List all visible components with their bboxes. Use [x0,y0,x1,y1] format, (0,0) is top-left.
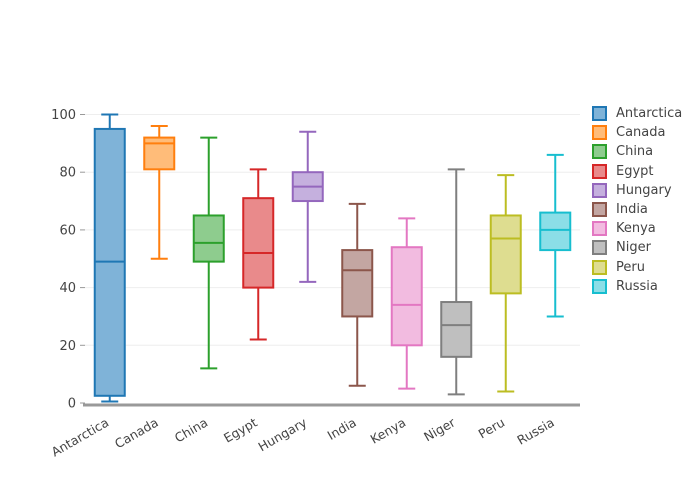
box-iqr[interactable] [144,138,174,170]
x-tick-label[interactable]: Niger [421,414,458,444]
legend-item[interactable]: Egypt [592,162,696,181]
box-iqr[interactable] [441,302,471,357]
legend-item[interactable]: China [592,142,696,161]
box-plot-series[interactable] [342,204,372,386]
y-tick-label: 60 [59,223,76,238]
box-iqr[interactable] [540,213,570,251]
box-plot-series[interactable] [441,169,471,394]
legend-swatch-icon [592,279,607,294]
legend-swatch-icon [592,106,607,121]
x-tick-label[interactable]: Antarctica [49,415,112,460]
legend-item[interactable]: Kenya [592,219,696,238]
box-plot-series[interactable] [95,115,125,402]
legend-swatch-icon [592,202,607,217]
x-tick-label[interactable]: Peru [476,415,508,442]
legend-item-label: Canada [616,126,665,139]
box-plot-series[interactable] [243,169,273,339]
box-iqr[interactable] [194,215,224,261]
legend-item-label: Antarctica [616,107,682,120]
legend-swatch-icon [592,164,607,179]
legend-item-label: Peru [616,261,645,274]
legend-item-label: China [616,145,653,158]
box-iqr[interactable] [342,250,372,316]
box-iqr[interactable] [243,198,273,287]
legend-item[interactable]: Antarctica [592,104,696,123]
y-axis: 020406080100 [51,108,85,412]
legend-item[interactable]: India [592,200,696,219]
legend-swatch-icon [592,240,607,255]
legend-swatch-icon [592,221,607,236]
box-plot-series[interactable] [144,126,174,259]
legend-item-label: Russia [616,280,658,293]
x-tick-label[interactable]: Russia [514,415,556,448]
box-plot-series[interactable] [540,155,570,317]
legend-item-label: India [616,203,648,216]
legend-item[interactable]: Russia [592,277,696,296]
legend-swatch-icon [592,144,607,159]
x-tick-label[interactable]: Canada [112,415,161,452]
x-tick-label[interactable]: Egypt [221,415,260,446]
legend-swatch-icon [592,125,607,140]
y-tick-label: 20 [59,339,76,354]
chart-root: 020406080100AntarcticaCanadaChinaEgyptHu… [0,0,700,500]
legend-item-label: Hungary [616,184,672,197]
legend-item-label: Egypt [616,165,654,178]
y-tick-label: 0 [68,397,76,412]
legend-item[interactable]: Hungary [592,181,696,200]
box-plot-series[interactable] [491,175,521,391]
x-tick-label[interactable]: Hungary [256,414,310,454]
box-plot-series[interactable] [392,218,422,388]
legend-item-label: Kenya [616,222,656,235]
x-tick-label[interactable]: Kenya [368,415,409,447]
box-plot-series[interactable] [293,132,323,282]
legend-item[interactable]: Canada [592,123,696,142]
legend-item-label: Niger [616,241,651,254]
y-tick-label: 80 [59,166,76,181]
x-axis: AntarcticaCanadaChinaEgyptHungaryIndiaKe… [49,414,557,459]
legend: AntarcticaCanadaChinaEgyptHungaryIndiaKe… [592,104,696,296]
legend-swatch-icon [592,260,607,275]
x-tick-label[interactable]: China [172,415,210,446]
box-iqr[interactable] [491,215,521,293]
y-tick-label: 100 [51,108,76,123]
y-tick-label: 40 [59,281,76,296]
x-tick-label[interactable]: India [325,415,359,443]
legend-item[interactable]: Niger [592,238,696,257]
legend-item[interactable]: Peru [592,258,696,277]
box-iqr[interactable] [392,247,422,345]
legend-swatch-icon [592,183,607,198]
